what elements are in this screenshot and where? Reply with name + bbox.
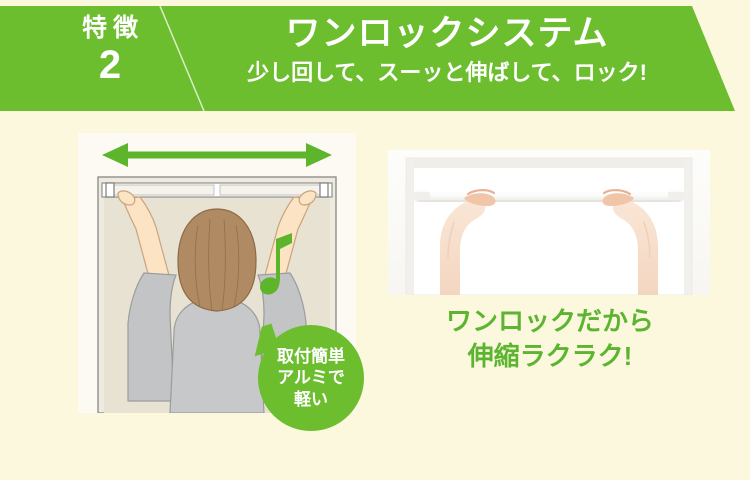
feature-label: 特徴 [56, 14, 164, 43]
banner-text-block: ワンロックシステム 少し回して、スーッと伸ばして、ロック! [212, 14, 682, 87]
caption-line-1: ワンロックだから [400, 306, 700, 338]
badge-line-2: アルミで [277, 367, 345, 388]
banner-title: ワンロックシステム [212, 14, 682, 54]
feature-block: 特徴 2 [56, 14, 164, 85]
product-photo [388, 150, 710, 295]
badge-line-3: 軽い [294, 389, 328, 410]
advertisement-page: 特徴 2 ワンロックシステム 少し回して、スーッと伸ばして、ロック! [0, 0, 750, 480]
photo-caption: ワンロックだから 伸縮ラクラク! [400, 306, 700, 372]
callout-badge: 取付簡単 アルミで 軽い [258, 325, 364, 431]
banner-subtitle: 少し回して、スーッと伸ばして、ロック! [212, 60, 682, 86]
feature-number: 2 [56, 45, 164, 85]
caption-line-2: 伸縮ラクラク! [400, 341, 700, 373]
badge-line-1: 取付簡単 [277, 346, 345, 367]
badge-text: 取付簡単 アルミで 軽い [258, 325, 364, 431]
